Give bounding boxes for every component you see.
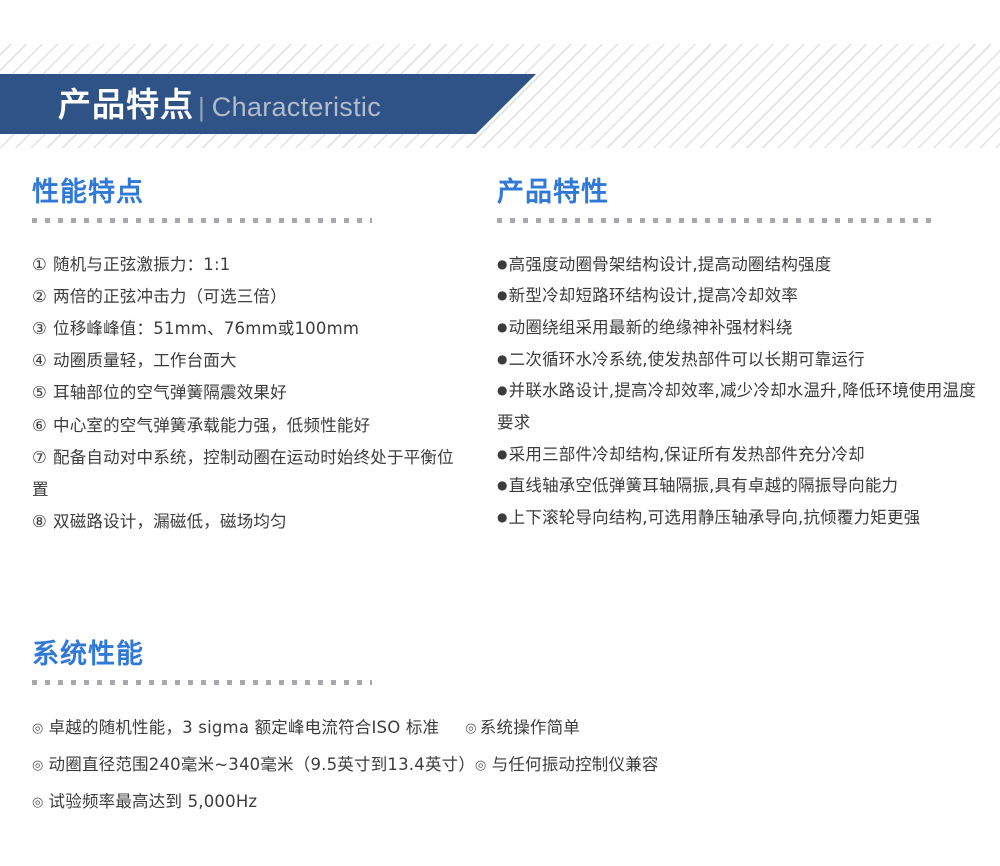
list-item-text-secondary: 系统操作简单 — [480, 718, 580, 737]
system-performance-section: 系统性能 ◎卓越的随机性能，3 sigma 额定峰电流符合ISO 标准◎系统操作… — [32, 640, 982, 820]
ring-bullet-icon: ◎ — [32, 795, 44, 810]
ring-bullet-icon: ◎ — [475, 758, 487, 773]
product-characteristics-column: 产品特性 ●高强度动圈骨架结构设计,提高动圈结构强度 ●新型冷却短路环结构设计,… — [497, 178, 987, 534]
banner-text-group: 产品特点 | Characteristic — [0, 88, 381, 121]
secondary-entry: ◎与任何振动控制仪兼容 — [475, 755, 659, 774]
page-title-english: Characteristic — [212, 94, 381, 121]
list-item: ●新型冷却短路环结构设计,提高冷却效率 — [497, 280, 987, 312]
bullet-dot-icon: ● — [497, 352, 508, 366]
section-heading-system: 系统性能 — [32, 640, 982, 670]
bullet-dot-icon: ● — [497, 257, 508, 271]
performance-feature-list: ①随机与正弦激振力：1:1 ②两倍的正弦冲击力（可选三倍） ③位移峰峰值：51m… — [32, 249, 462, 539]
list-item-text: 采用三部件冷却结构,保证所有发热部件充分冷却 — [509, 445, 865, 464]
list-item-text: 动圈直径范围240毫米~340毫米（9.5英寸到13.4英寸） — [49, 755, 476, 774]
list-marker: ① — [32, 255, 47, 274]
list-item-text: 随机与正弦激振力：1:1 — [53, 255, 230, 274]
list-item: ●高强度动圈骨架结构设计,提高动圈结构强度 — [497, 249, 987, 281]
list-item: ③位移峰峰值：51mm、76mm或100mm — [32, 313, 462, 345]
list-item-text: 高强度动圈骨架结构设计,提高动圈结构强度 — [509, 255, 832, 274]
list-item: ●上下滚轮导向结构,可选用静压轴承导向,抗倾覆力矩更强 — [497, 502, 987, 534]
list-marker: ② — [32, 287, 47, 306]
list-item-text: 位移峰峰值：51mm、76mm或100mm — [53, 319, 359, 338]
heading-dashed-rule — [32, 680, 372, 685]
bullet-dot-icon: ● — [497, 478, 508, 492]
list-item-text: 卓越的随机性能，3 sigma 额定峰电流符合ISO 标准 — [49, 718, 440, 737]
section-heading-performance: 性能特点 — [32, 178, 462, 208]
list-item-text: 中心室的空气弹簧承载能力强，低频性能好 — [53, 416, 370, 435]
bullet-dot-icon: ● — [497, 510, 508, 524]
list-item: ④动圈质量轻，工作台面大 — [32, 345, 462, 377]
bullet-dot-icon: ● — [497, 320, 508, 334]
title-separator: | — [198, 94, 205, 120]
list-marker: ④ — [32, 351, 47, 370]
list-item: ⑥中心室的空气弹簧承载能力强，低频性能好 — [32, 410, 462, 442]
list-item: ②两倍的正弦冲击力（可选三倍） — [32, 281, 462, 313]
list-item: ◎卓越的随机性能，3 sigma 额定峰电流符合ISO 标准◎系统操作简单 — [32, 709, 982, 746]
performance-features-column: 性能特点 ①随机与正弦激振力：1:1 ②两倍的正弦冲击力（可选三倍） ③位移峰峰… — [32, 178, 462, 538]
list-item: ①随机与正弦激振力：1:1 — [32, 249, 462, 281]
list-item-text: 并联水路设计,提高冷却效率,减少冷却水温升,降低环境使用温度要求 — [497, 381, 976, 432]
bullet-dot-icon: ● — [497, 447, 508, 461]
header-region: 产品特点 | Characteristic — [0, 0, 1000, 160]
list-item-text: 动圈质量轻，工作台面大 — [53, 351, 237, 370]
list-item-text: 耳轴部位的空气弹簧隔震效果好 — [53, 383, 287, 402]
list-item-text: 二次循环水冷系统,使发热部件可以长期可靠运行 — [509, 350, 865, 369]
list-item-text: 新型冷却短路环结构设计,提高冷却效率 — [509, 286, 798, 305]
list-item-text-secondary: 与任何振动控制仪兼容 — [492, 755, 659, 774]
list-item-text: 动圈绕组采用最新的绝缘神补强材料绕 — [509, 318, 793, 337]
page-title-banner: 产品特点 | Characteristic — [0, 74, 536, 134]
list-item: ⑦配备自动对中系统，控制动圈在运动时始终处于平衡位置 — [32, 442, 462, 506]
list-item-text: 试验频率最高达到 5,000Hz — [49, 792, 258, 811]
list-item-text: 两倍的正弦冲击力（可选三倍） — [53, 287, 287, 306]
secondary-entry: ◎系统操作简单 — [465, 718, 580, 737]
product-characteristics-list: ●高强度动圈骨架结构设计,提高动圈结构强度 ●新型冷却短路环结构设计,提高冷却效… — [497, 249, 987, 534]
list-marker: ⑦ — [32, 448, 47, 467]
section-heading-characteristics: 产品特性 — [497, 178, 987, 208]
list-marker: ⑧ — [32, 512, 47, 531]
list-marker: ⑥ — [32, 416, 47, 435]
ring-bullet-icon: ◎ — [32, 721, 44, 736]
list-marker: ③ — [32, 319, 47, 338]
ring-bullet-icon: ◎ — [465, 721, 477, 736]
list-item: ◎动圈直径范围240毫米~340毫米（9.5英寸到13.4英寸）◎与任何振动控制… — [32, 746, 982, 783]
list-item-text: 上下滚轮导向结构,可选用静压轴承导向,抗倾覆力矩更强 — [509, 508, 921, 527]
list-item: ◎试验频率最高达到 5,000Hz — [32, 783, 982, 820]
ring-bullet-icon: ◎ — [32, 758, 44, 773]
list-item-text: 双磁路设计，漏磁低，磁场均匀 — [53, 512, 287, 531]
list-item: ●二次循环水冷系统,使发热部件可以长期可靠运行 — [497, 344, 987, 376]
list-item: ●直线轴承空低弹簧耳轴隔振,具有卓越的隔振导向能力 — [497, 470, 987, 502]
list-item: ⑧双磁路设计，漏磁低，磁场均匀 — [32, 506, 462, 538]
list-item: ⑤耳轴部位的空气弹簧隔震效果好 — [32, 377, 462, 409]
system-performance-list: ◎卓越的随机性能，3 sigma 额定峰电流符合ISO 标准◎系统操作简单 ◎动… — [32, 709, 982, 820]
page-title: 产品特点 — [58, 88, 194, 121]
list-item-text: 直线轴承空低弹簧耳轴隔振,具有卓越的隔振导向能力 — [509, 476, 899, 495]
list-marker: ⑤ — [32, 383, 47, 402]
list-item: ●动圈绕组采用最新的绝缘神补强材料绕 — [497, 312, 987, 344]
list-item: ●并联水路设计,提高冷却效率,减少冷却水温升,降低环境使用温度要求 — [497, 375, 987, 438]
heading-dashed-rule — [497, 218, 937, 223]
list-item: ●采用三部件冷却结构,保证所有发热部件充分冷却 — [497, 439, 987, 471]
bullet-dot-icon: ● — [497, 383, 508, 397]
heading-dashed-rule — [32, 218, 372, 223]
bullet-dot-icon: ● — [497, 288, 508, 302]
list-item-text: 配备自动对中系统，控制动圈在运动时始终处于平衡位置 — [32, 448, 454, 499]
